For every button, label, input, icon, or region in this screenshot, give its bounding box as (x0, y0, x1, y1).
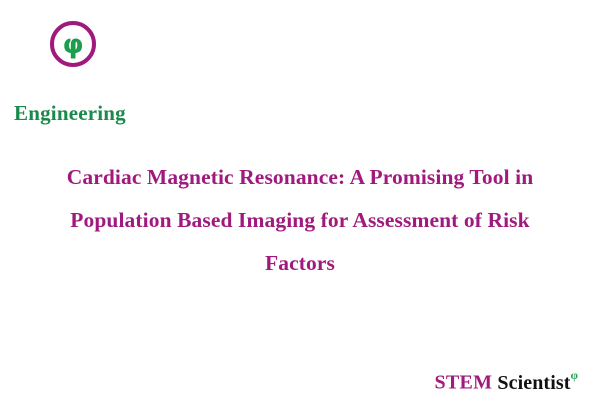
category-label: Engineering (14, 100, 126, 126)
brand-stem-text: STEM (434, 372, 492, 394)
brand-footer: STEMScientistφ (434, 365, 578, 395)
slide-canvas: φ Engineering Cardiac Magnetic Resonance… (0, 0, 600, 403)
page-title-line-1: Cardiac Magnetic Resonance: A Promising … (20, 156, 580, 199)
phi-circle-logo: φ (48, 19, 98, 69)
phi-circle-logo-icon: φ (48, 19, 98, 69)
brand-phi-icon: φ (571, 368, 579, 382)
page-title-line-2: Population Based Imaging for Assessment … (20, 199, 580, 242)
page-title-line-3: Factors (20, 242, 580, 285)
logo-phi-glyph: φ (62, 29, 83, 60)
page-title: Cardiac Magnetic Resonance: A Promising … (20, 156, 580, 285)
brand-scientist-text: Scientist (497, 372, 570, 394)
